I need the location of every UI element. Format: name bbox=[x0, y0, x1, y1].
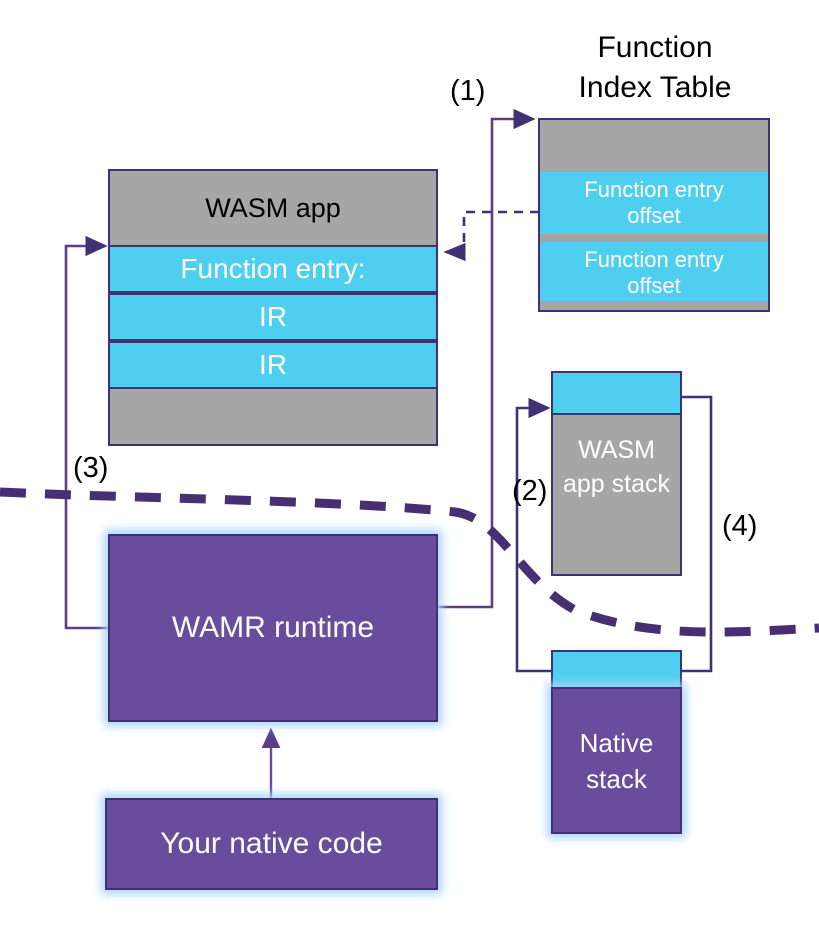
function-entry-offset-row-1: Function entryoffset bbox=[540, 172, 768, 234]
wasm-app-row-ir-2: IR bbox=[110, 341, 436, 389]
wire-step1 bbox=[426, 119, 533, 613]
function-entry-offset-row-2: Function entryoffset bbox=[540, 242, 768, 304]
fn-title-line2: Index Table bbox=[525, 68, 785, 108]
wasm-app-row-label: IR bbox=[259, 301, 287, 333]
wasm-app-header-label: WASM app bbox=[110, 171, 436, 246]
wasm-app-row-label: Function entry: bbox=[180, 253, 365, 285]
table-divider-2 bbox=[540, 301, 768, 309]
wasm-app-row-function-entry: Function entry: bbox=[110, 245, 436, 293]
wasm-app-stack-block: WASMapp stack bbox=[551, 371, 682, 576]
wasm-app-block: WASM app Function entry: IR IR bbox=[108, 169, 438, 446]
step-label-2: (2) bbox=[512, 475, 547, 508]
table-divider-1 bbox=[540, 234, 768, 242]
step-label-3: (3) bbox=[73, 452, 108, 485]
step-label-4: (4) bbox=[722, 510, 757, 543]
wire-step3 bbox=[66, 246, 108, 628]
function-entry-offset-label: Function entryoffset bbox=[584, 177, 723, 229]
function-index-table-block: Function entryoffset Function entryoffse… bbox=[538, 118, 770, 312]
function-entry-offset-label: Function entryoffset bbox=[584, 247, 723, 299]
wasm-app-row-label: IR bbox=[259, 349, 287, 381]
fn-title-line1: Function bbox=[525, 28, 785, 68]
wamr-runtime-label: WAMR runtime bbox=[172, 611, 374, 645]
native-stack-label: Nativestack bbox=[551, 687, 682, 834]
wasm-app-stack-label: WASMapp stack bbox=[553, 433, 680, 501]
native-code-block: Your native code bbox=[105, 798, 438, 890]
step-label-1: (1) bbox=[450, 75, 485, 108]
native-stack-block: Nativestack bbox=[551, 650, 682, 834]
diagram-canvas: Function Index Table (1) (2) (3) (4) WAS… bbox=[0, 0, 819, 925]
native-stack-band bbox=[551, 650, 682, 689]
wasm-app-stack-band bbox=[553, 373, 680, 415]
wamr-runtime-block: WAMR runtime bbox=[108, 534, 438, 722]
native-code-label: Your native code bbox=[160, 827, 382, 861]
wasm-app-row-ir-1: IR bbox=[110, 293, 436, 341]
function-index-table-title: Function Index Table bbox=[525, 28, 785, 108]
